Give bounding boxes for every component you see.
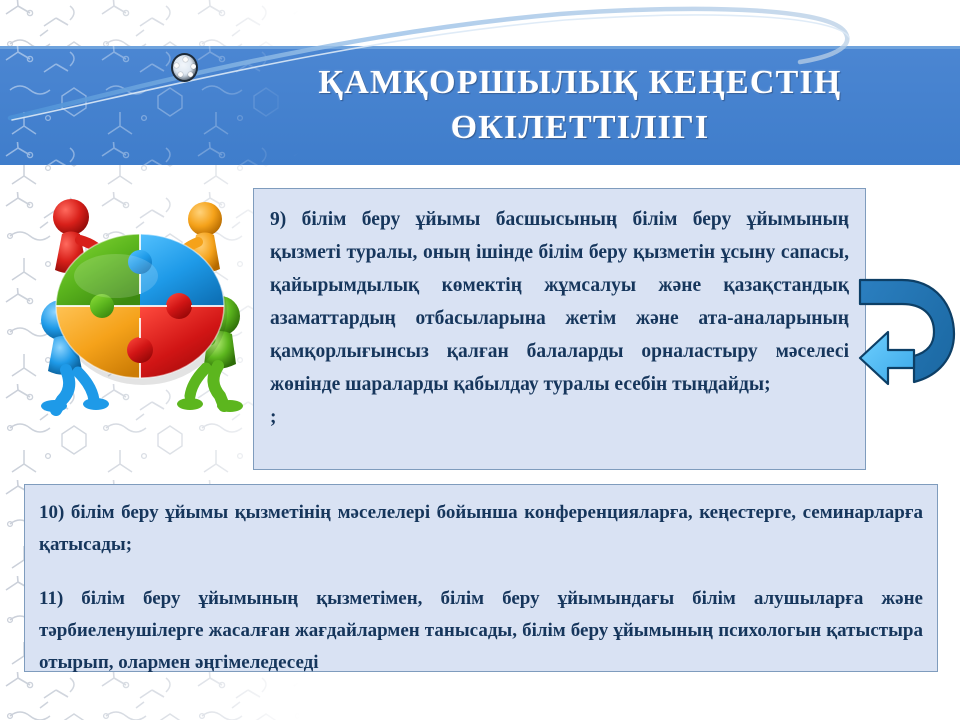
clause-9-textbox: 9) білім беру ұйымы басшысының білім бер…	[253, 188, 866, 470]
clause-11-paragraph: 11) білім беру ұйымының қызметімен, білі…	[39, 583, 923, 679]
page-title: ҚАМҚОРШЫЛЫҚ КЕҢЕСТІҢ ӨКІЛЕТТІЛІГІ	[230, 60, 930, 150]
teamwork-puzzle-illustration	[24, 190, 256, 416]
clauses-10-11-textbox: 10) білім беру ұйымы қызметінің мәселеле…	[24, 484, 938, 672]
clause-9-trailing-mark: ;	[270, 401, 849, 434]
title-banner: ҚАМҚОРШЫЛЫҚ КЕҢЕСТІҢ ӨКІЛЕТТІЛІГІ	[0, 46, 960, 165]
page-title-line-1: ҚАМҚОРШЫЛЫҚ КЕҢЕСТІҢ	[230, 60, 930, 105]
clause-9-paragraph: 9) білім беру ұйымы басшысының білім бер…	[270, 203, 849, 401]
clause-10-paragraph: 10) білім беру ұйымы қызметінің мәселеле…	[39, 497, 923, 561]
presentation-slide: ҚАМҚОРШЫЛЫҚ КЕҢЕСТІҢ ӨКІЛЕТТІЛІГІ	[0, 0, 960, 720]
orbit-ball-icon	[171, 53, 198, 82]
page-title-line-2: ӨКІЛЕТТІЛІГІ	[230, 105, 930, 150]
u-turn-arrow-icon	[858, 272, 960, 410]
